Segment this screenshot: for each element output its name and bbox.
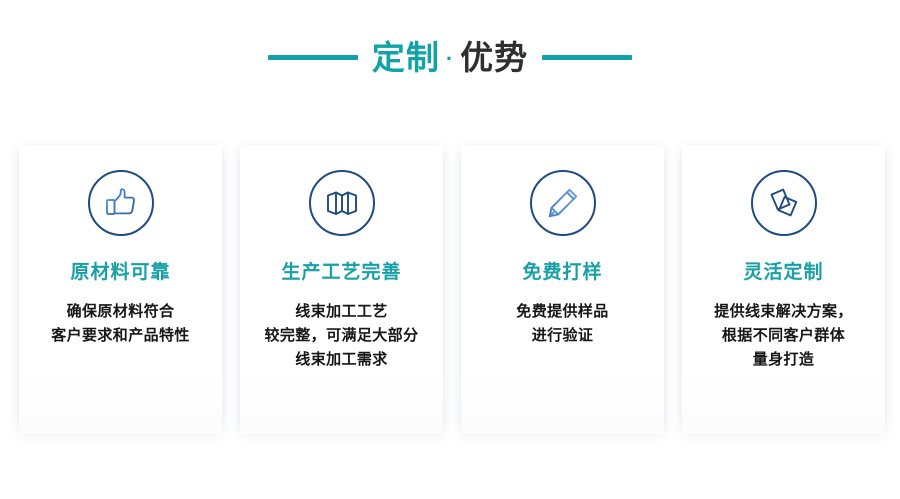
section-header: 定制 · 优势 bbox=[0, 28, 900, 86]
header-rule-right bbox=[542, 55, 632, 60]
folded-map-icon bbox=[309, 170, 375, 236]
card-title: 生产工艺完善 bbox=[281, 263, 401, 284]
card-title: 原材料可靠 bbox=[70, 263, 170, 284]
card-body-line: 客户要求和产品特性 bbox=[26, 324, 216, 348]
pencil-icon bbox=[530, 170, 596, 236]
card-body-line: 量身打造 bbox=[689, 348, 879, 372]
card-body-line: 免费提供样品 bbox=[468, 300, 658, 324]
page-title: 定制 · 优势 bbox=[372, 41, 528, 74]
card-body-line: 根据不同客户群体 bbox=[689, 324, 879, 348]
card-body: 确保原材料符合 客户要求和产品特性 bbox=[26, 300, 216, 349]
page-title-separator: · bbox=[442, 48, 458, 70]
card-title: 免费打样 bbox=[522, 263, 602, 284]
card-body: 提供线束解决方案， 根据不同客户群体 量身打造 bbox=[689, 300, 879, 373]
advantage-card[interactable]: 灵活定制 提供线束解决方案， 根据不同客户群体 量身打造 bbox=[682, 145, 885, 434]
overlapping-cards-icon bbox=[751, 170, 817, 236]
card-body-line: 线束加工需求 bbox=[247, 348, 437, 372]
page-title-primary: 定制 bbox=[372, 41, 440, 74]
card-title: 灵活定制 bbox=[743, 263, 823, 284]
advantage-card[interactable]: 生产工艺完善 线束加工工艺 较完整，可满足大部分 线束加工需求 bbox=[240, 145, 443, 434]
card-body-line: 提供线束解决方案， bbox=[689, 300, 879, 324]
card-body: 免费提供样品 进行验证 bbox=[468, 300, 658, 349]
header-rule-left bbox=[268, 55, 358, 60]
advantages-section: 定制 · 优势 bbox=[0, 0, 900, 499]
advantage-card-list: 原材料可靠 确保原材料符合 客户要求和产品特性 生产工艺完善 bbox=[19, 145, 885, 434]
page-title-secondary: 优势 bbox=[460, 41, 528, 74]
card-body-line: 线束加工工艺 bbox=[247, 300, 437, 324]
card-body: 线束加工工艺 较完整，可满足大部分 线束加工需求 bbox=[247, 300, 437, 373]
card-body-line: 进行验证 bbox=[468, 324, 658, 348]
advantage-card[interactable]: 原材料可靠 确保原材料符合 客户要求和产品特性 bbox=[19, 145, 222, 434]
card-body-line: 较完整，可满足大部分 bbox=[247, 324, 437, 348]
thumbs-up-icon bbox=[88, 170, 154, 236]
card-body-line: 确保原材料符合 bbox=[26, 300, 216, 324]
advantage-card[interactable]: 免费打样 免费提供样品 进行验证 bbox=[461, 145, 664, 434]
